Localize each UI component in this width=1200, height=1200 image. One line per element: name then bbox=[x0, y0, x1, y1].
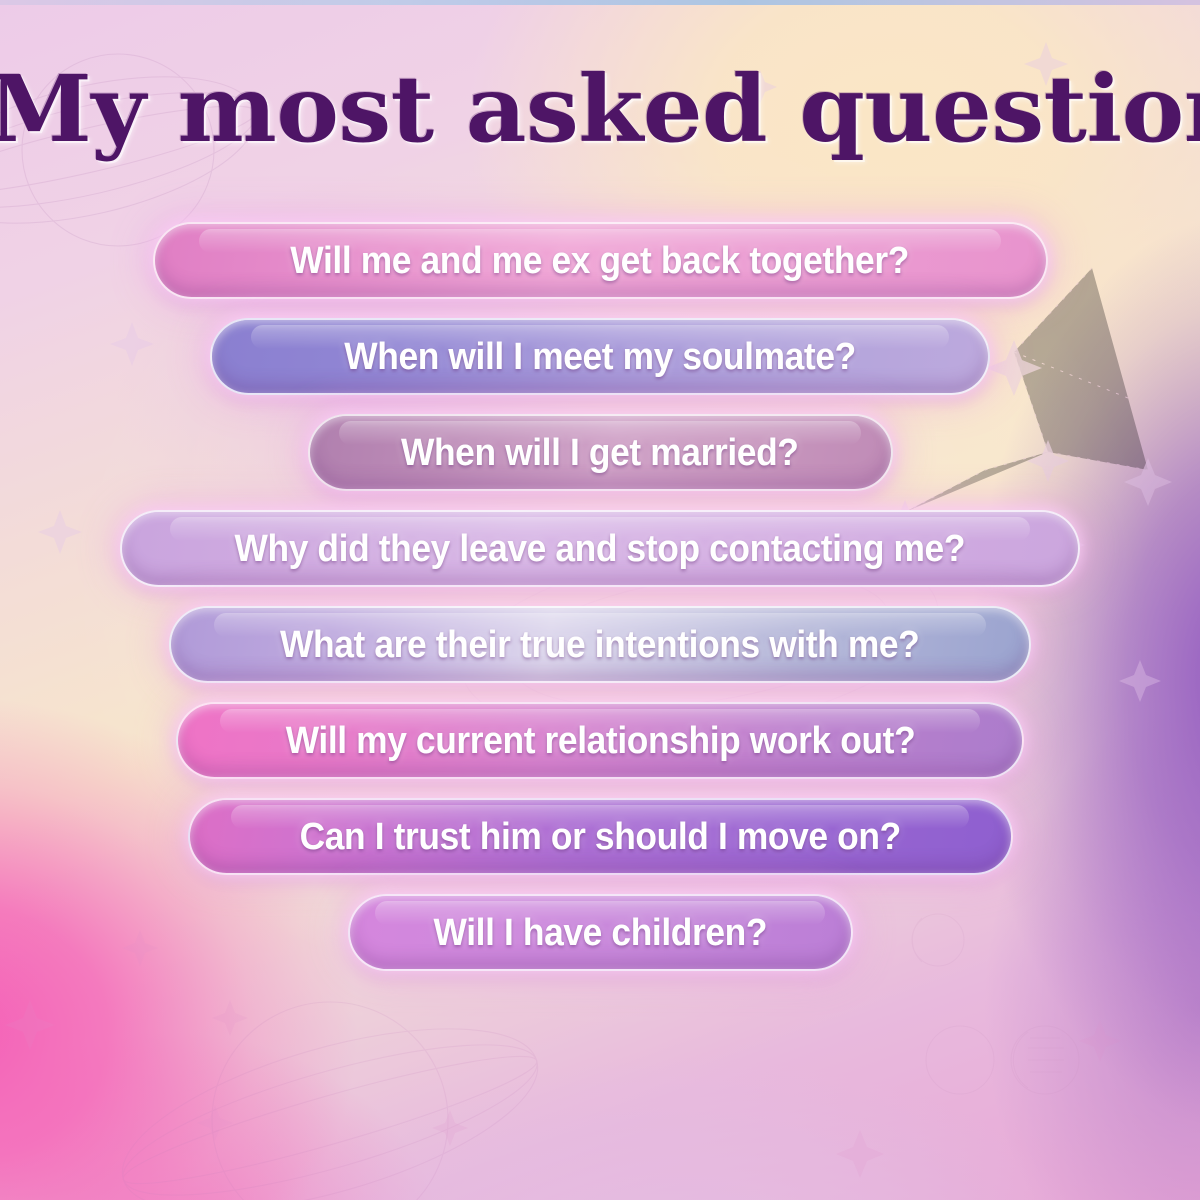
question-label: When will I get married? bbox=[401, 434, 799, 472]
page-title: My most asked questions bbox=[0, 62, 1200, 158]
question-label: Will I have children? bbox=[433, 914, 767, 952]
title-container: My most asked questions bbox=[0, 62, 1200, 158]
question-pill-3[interactable]: When will I get married? bbox=[308, 414, 893, 491]
question-pill-2[interactable]: When will I meet my soulmate? bbox=[210, 318, 990, 395]
question-pill-1[interactable]: Will me and me ex get back together? bbox=[153, 222, 1048, 299]
question-label: What are their true intentions with me? bbox=[280, 626, 919, 664]
question-list: Will me and me ex get back together? Whe… bbox=[0, 222, 1200, 971]
question-label: When will I meet my soulmate? bbox=[344, 338, 856, 376]
poster-canvas: My most asked questions Will me and me e… bbox=[0, 0, 1200, 1200]
question-pill-7[interactable]: Can I trust him or should I move on? bbox=[188, 798, 1013, 875]
question-pill-5[interactable]: What are their true intentions with me? bbox=[169, 606, 1031, 683]
question-label: Will my current relationship work out? bbox=[285, 722, 915, 760]
top-edge-accent-line bbox=[0, 0, 1200, 5]
question-pill-6[interactable]: Will my current relationship work out? bbox=[176, 702, 1024, 779]
question-label: Can I trust him or should I move on? bbox=[299, 818, 900, 856]
question-label: Will me and me ex get back together? bbox=[291, 242, 910, 280]
question-pill-4[interactable]: Why did they leave and stop contacting m… bbox=[120, 510, 1080, 587]
question-pill-8[interactable]: Will I have children? bbox=[348, 894, 853, 971]
question-label: Why did they leave and stop contacting m… bbox=[235, 530, 966, 568]
